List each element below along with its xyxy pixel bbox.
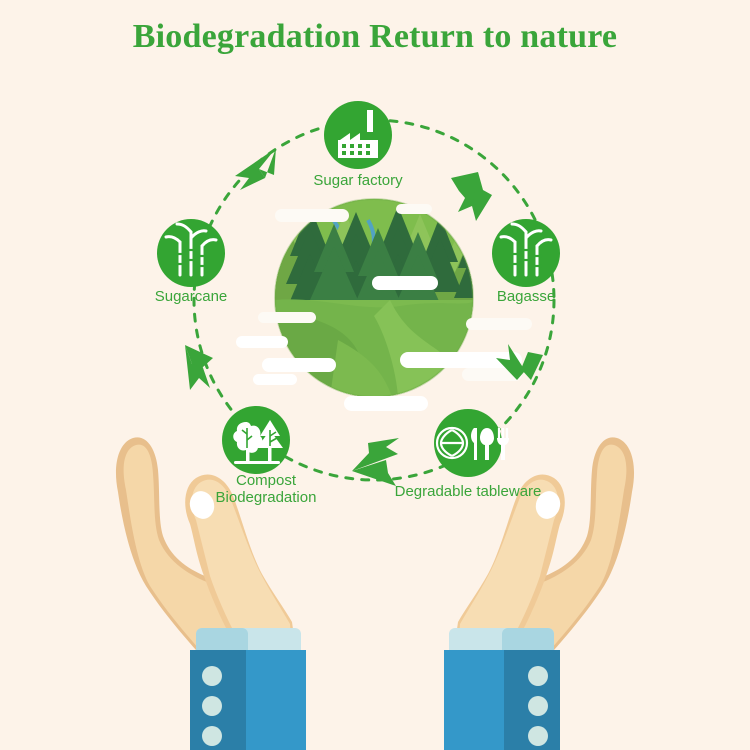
label-sugarcane: Sugarcane [91,288,291,305]
infographic-canvas: Biodegradation Return to nature [0,0,750,750]
node-compost-biodegradation[interactable] [222,406,290,474]
arrow-to-sugarcane [185,345,213,390]
right-sleeve [444,628,560,750]
label-sugar-factory: Sugar factory [258,172,458,189]
node-degradable-tableware[interactable] [434,409,509,477]
label-degradable-tableware: Degradable tableware [368,483,568,500]
left-sleeve [190,628,306,750]
node-sugar-factory[interactable] [324,101,392,169]
label-bagasse: Bagasse [426,288,626,305]
node-sugarcane[interactable] [157,219,225,287]
node-bagasse[interactable] [492,219,560,287]
illustration-layer [0,0,750,750]
label-compost-biodegradation: Compost Biodegradation [166,472,366,507]
